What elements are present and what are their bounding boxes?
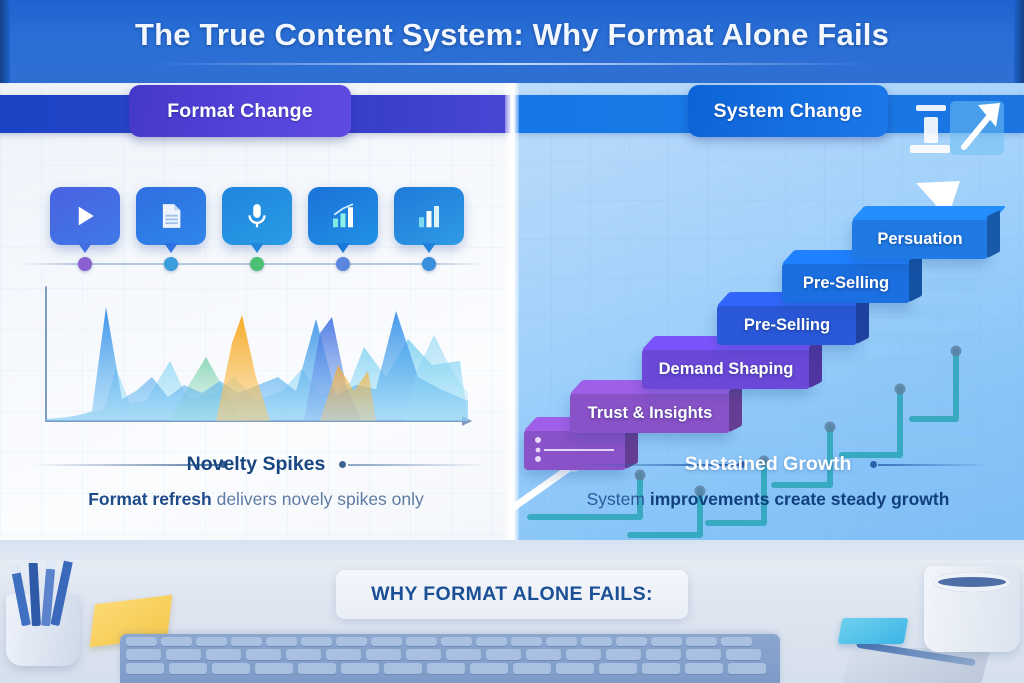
keyboard-key[interactable] xyxy=(126,637,157,646)
keyboard-key[interactable] xyxy=(427,663,465,674)
keyboard-key[interactable] xyxy=(441,637,472,646)
keyboard-key[interactable] xyxy=(726,649,761,660)
keyboard-key[interactable] xyxy=(646,649,681,660)
keyboard-key[interactable] xyxy=(511,637,542,646)
keyboard-key[interactable] xyxy=(126,663,164,674)
keyboard-key[interactable] xyxy=(599,663,637,674)
novelty-spike-chart xyxy=(20,273,492,453)
keyboard-key[interactable] xyxy=(266,637,297,646)
format-timeline xyxy=(20,256,485,272)
format-icon-row xyxy=(50,187,470,257)
keyboard-key[interactable] xyxy=(651,637,682,646)
keyboard-key[interactable] xyxy=(301,637,332,646)
keyboard-key[interactable] xyxy=(556,663,594,674)
right-caption-sub-bold2: create steady growth xyxy=(774,489,949,509)
timeline-dot-5 xyxy=(422,257,436,271)
title-bar: The True Content System: Why Format Alon… xyxy=(0,0,1024,83)
right-caption-bullet-right xyxy=(870,461,877,468)
keyboard-key[interactable] xyxy=(366,649,401,660)
step-label-1: Trust & Insights xyxy=(588,404,713,423)
document-icon[interactable] xyxy=(136,187,206,245)
keyboard-key[interactable] xyxy=(336,637,367,646)
keyboard-key[interactable] xyxy=(161,637,192,646)
bar-chart-trend-icon[interactable] xyxy=(308,187,378,245)
right-caption-sub: System improvements create steady growth xyxy=(512,489,1024,510)
keyboard-key[interactable] xyxy=(606,649,641,660)
timeline-dot-3 xyxy=(250,257,264,271)
left-caption-sub-rest: delivers novely spikes only xyxy=(212,489,424,509)
right-caption-rule-right xyxy=(878,464,990,466)
right-caption-sub-lead: System xyxy=(587,489,650,509)
comparison-panels: Novelty Spikes Format refresh delivers n… xyxy=(0,83,1024,560)
panel-divider xyxy=(505,83,519,560)
keyboard-key[interactable] xyxy=(298,663,336,674)
timeline-dot-2 xyxy=(164,257,178,271)
bar-chart-icon[interactable] xyxy=(394,187,464,245)
format-change-panel: Novelty Spikes Format refresh delivers n… xyxy=(0,83,512,560)
blue-sticky-notes xyxy=(838,618,909,644)
staircase-step-pre-selling-2[interactable]: Pre-Selling xyxy=(782,263,910,303)
title-underline xyxy=(154,63,870,65)
keyboard-key[interactable] xyxy=(169,663,207,674)
keyboard-key[interactable] xyxy=(246,649,281,660)
keyboard-key[interactable] xyxy=(686,649,721,660)
system-change-panel: Trust & Insights Demand Shaping Pre-Sell… xyxy=(512,83,1024,560)
staircase-step-demand-shaping[interactable]: Demand Shaping xyxy=(642,349,810,389)
base-step-rule xyxy=(544,449,614,451)
keyboard-key[interactable] xyxy=(728,663,766,674)
play-icon[interactable] xyxy=(50,187,120,245)
keyboard-key[interactable] xyxy=(616,637,647,646)
keyboard-key[interactable] xyxy=(371,637,402,646)
keyboard-key[interactable] xyxy=(206,649,241,660)
keyboard[interactable] xyxy=(120,634,780,683)
keyboard-key[interactable] xyxy=(721,637,752,646)
keyboard-key[interactable] xyxy=(196,637,227,646)
left-caption-bullet-right xyxy=(339,461,346,468)
staircase-step-persuation[interactable]: Persuation xyxy=(852,219,988,259)
infographic-canvas: The True Content System: Why Format Alon… xyxy=(0,0,1024,683)
microphone-icon[interactable] xyxy=(222,187,292,245)
left-caption-rule-right xyxy=(348,464,488,466)
keyboard-key[interactable] xyxy=(642,663,680,674)
keyboard-key[interactable] xyxy=(406,637,437,646)
page-title: The True Content System: Why Format Alon… xyxy=(0,17,1024,53)
keyboard-key[interactable] xyxy=(686,637,717,646)
bottom-banner: WHY FORMAT ALONE FAILS: xyxy=(336,570,688,619)
right-caption-sub-bold1: improvements xyxy=(650,489,770,509)
keyboard-key[interactable] xyxy=(255,663,293,674)
timeline-dot-1 xyxy=(78,257,92,271)
step-label-5: Persuation xyxy=(877,230,962,249)
keyboard-key[interactable] xyxy=(126,649,161,660)
keyboard-key[interactable] xyxy=(685,663,723,674)
left-caption-sub: Format refresh delivers novely spikes on… xyxy=(0,489,512,510)
keyboard-key[interactable] xyxy=(476,637,507,646)
keyboard-key[interactable] xyxy=(384,663,422,674)
keyboard-key[interactable] xyxy=(166,649,201,660)
format-change-badge[interactable]: Format Change xyxy=(129,85,351,137)
keyboard-key[interactable] xyxy=(486,649,521,660)
step-label-2: Demand Shaping xyxy=(659,360,794,379)
keyboard-key[interactable] xyxy=(406,649,441,660)
staircase-step-pre-selling-1[interactable]: Pre-Selling xyxy=(717,305,857,345)
keyboard-key[interactable] xyxy=(470,663,508,674)
keyboard-key[interactable] xyxy=(566,649,601,660)
left-caption-sub-bold: Format refresh xyxy=(88,489,212,509)
staircase-step-trust-and-insights[interactable]: Trust & Insights xyxy=(570,393,730,433)
keyboard-key[interactable] xyxy=(581,637,612,646)
keyboard-key[interactable] xyxy=(446,649,481,660)
coffee-surface xyxy=(933,572,1011,592)
keyboard-key[interactable] xyxy=(212,663,250,674)
keyboard-key[interactable] xyxy=(526,649,561,660)
timeline-dot-4 xyxy=(336,257,350,271)
step-label-3: Pre-Selling xyxy=(744,316,830,335)
coffee-mug xyxy=(924,566,1020,652)
system-change-badge[interactable]: System Change xyxy=(688,85,888,137)
keyboard-key[interactable] xyxy=(286,649,321,660)
keyboard-key[interactable] xyxy=(341,663,379,674)
keyboard-key[interactable] xyxy=(546,637,577,646)
pencil-cup xyxy=(6,594,80,666)
keyboard-key[interactable] xyxy=(231,637,262,646)
keyboard-key[interactable] xyxy=(513,663,551,674)
keyboard-key[interactable] xyxy=(326,649,361,660)
step-label-4: Pre-Selling xyxy=(803,274,889,293)
